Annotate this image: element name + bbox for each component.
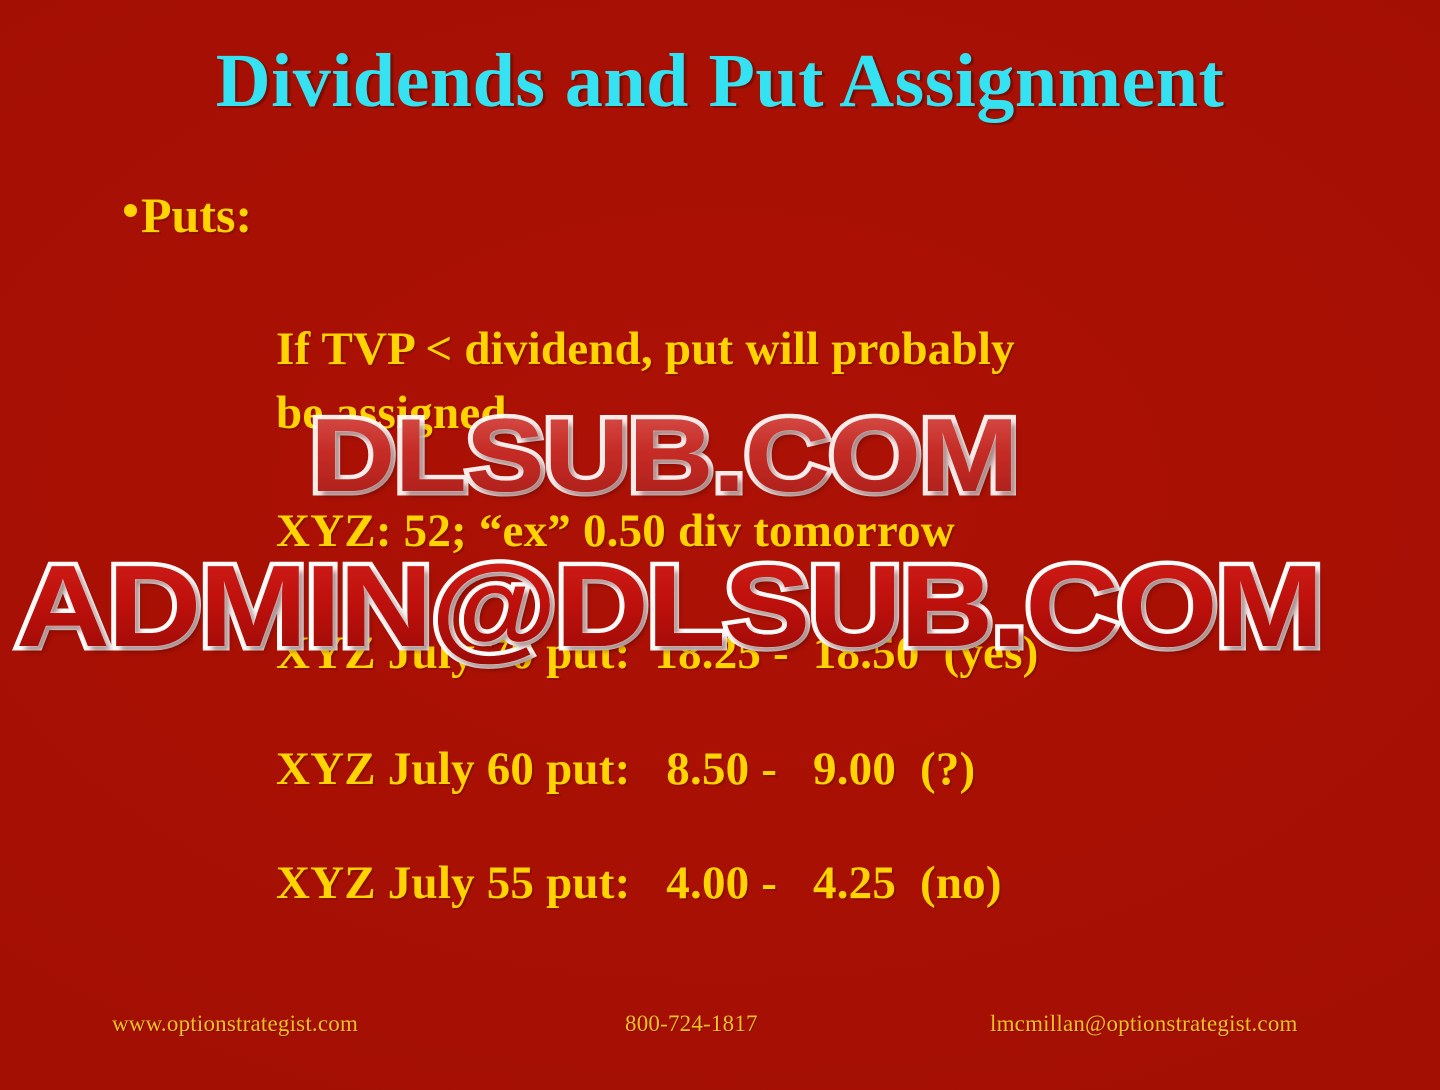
slide-title: Dividends and Put Assignment xyxy=(0,38,1440,125)
body-line-put-60: XYZ July 60 put: 8.50 - 9.00 (?) xyxy=(276,742,975,796)
slide-footer: www.optionstrategist.com 800-724-1817 lm… xyxy=(0,1005,1440,1045)
footer-email: lmcmillan@optionstrategist.com xyxy=(990,1011,1298,1037)
body-line-tvp-1: If TVP < dividend, put will probably xyxy=(276,322,1015,376)
body-line-put-55: XYZ July 55 put: 4.00 - 4.25 (no) xyxy=(276,856,1002,910)
bullet-item-puts-label: Puts: xyxy=(141,187,252,243)
slide-canvas: Dividends and Put Assignment Puts: If TV… xyxy=(0,0,1440,1090)
footer-website: www.optionstrategist.com xyxy=(112,1011,358,1037)
watermark-dlsub: DLSUB.COM xyxy=(310,404,1018,508)
bullet-dot-icon xyxy=(124,204,137,217)
bullet-item-puts: Puts: xyxy=(124,186,252,244)
watermark-admin-email: ADMIN@DLSUB.COM xyxy=(16,548,1322,664)
footer-phone: 800-724-1817 xyxy=(625,1011,758,1037)
